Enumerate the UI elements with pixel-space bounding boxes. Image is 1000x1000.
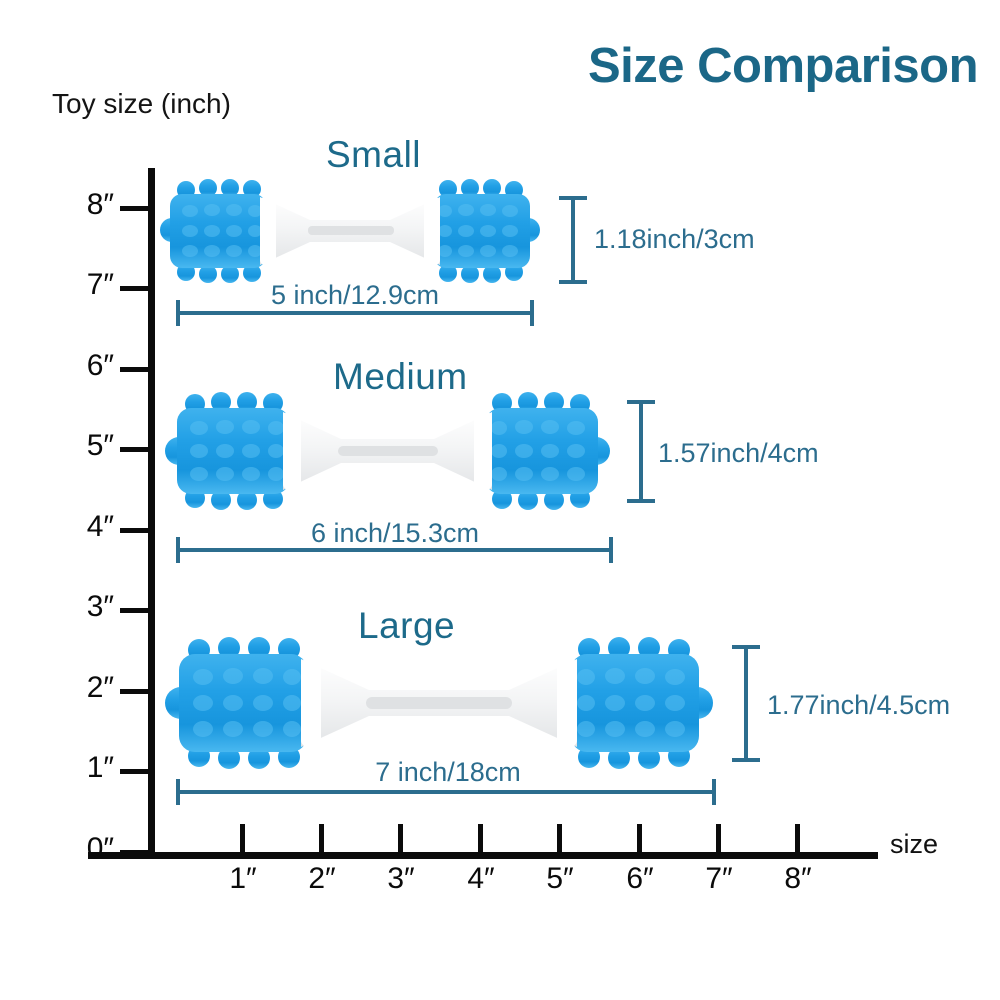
x-tick-7 [716, 824, 721, 852]
dimension-thickness-medium: 1.57inch/4cm [658, 438, 819, 469]
y-tick-label-5: 5″ [56, 429, 114, 463]
dimension-bracket-thickness-medium [639, 400, 643, 503]
dimension-bracket-length-small [176, 311, 534, 315]
x-tick-4 [478, 824, 483, 852]
y-tick-label-3: 3″ [56, 590, 114, 624]
x-tick-label-6: 6″ [613, 862, 667, 896]
y-tick-7 [120, 286, 148, 291]
y-tick-4 [120, 528, 148, 533]
y-tick-label-6: 6″ [56, 349, 114, 383]
y-tick-1 [120, 769, 148, 774]
page-title: Size Comparison [588, 38, 978, 94]
dimension-bracket-length-medium [176, 548, 613, 552]
toy-image-large [165, 633, 713, 773]
y-tick-6 [120, 367, 148, 372]
x-tick-label-5: 5″ [533, 862, 587, 896]
dimension-bracket-thickness-small [571, 196, 575, 284]
y-tick-label-0: 0″ [56, 832, 114, 866]
x-axis-caption: size [890, 829, 938, 860]
dimension-length-medium: 6 inch/15.3cm [180, 518, 610, 549]
y-tick-label-8: 8″ [56, 188, 114, 222]
x-tick-label-3: 3″ [374, 862, 428, 896]
infographic-canvas: Size Comparison Toy size (inch) size 0″ … [0, 0, 1000, 1000]
x-tick-5 [557, 824, 562, 852]
y-tick-label-7: 7″ [56, 268, 114, 302]
x-tick-2 [319, 824, 324, 852]
x-axis-line [88, 852, 878, 859]
dimension-bracket-thickness-large [744, 645, 748, 762]
toy-image-medium [165, 389, 610, 513]
y-tick-2 [120, 689, 148, 694]
product-name-small: Small [326, 134, 421, 176]
y-tick-5 [120, 447, 148, 452]
dimension-bracket-length-large [176, 790, 716, 794]
x-tick-label-7: 7″ [692, 862, 746, 896]
x-tick-3 [398, 824, 403, 852]
dimension-length-small: 5 inch/12.9cm [175, 280, 535, 311]
y-tick-3 [120, 608, 148, 613]
x-tick-label-8: 8″ [771, 862, 825, 896]
dimension-length-large: 7 inch/18cm [180, 757, 716, 788]
x-tick-1 [240, 824, 245, 852]
x-tick-label-4: 4″ [454, 862, 508, 896]
y-axis-line [148, 168, 155, 858]
dimension-thickness-small: 1.18inch/3cm [594, 224, 755, 255]
y-axis-caption: Toy size (inch) [52, 88, 231, 120]
y-tick-label-4: 4″ [56, 510, 114, 544]
x-tick-label-1: 1″ [216, 862, 270, 896]
y-tick-8 [120, 206, 148, 211]
x-tick-8 [795, 824, 800, 852]
y-tick-label-1: 1″ [56, 751, 114, 785]
y-tick-label-2: 2″ [56, 671, 114, 705]
toy-image-small [160, 177, 540, 284]
x-tick-label-2: 2″ [295, 862, 349, 896]
x-tick-6 [637, 824, 642, 852]
dimension-thickness-large: 1.77inch/4.5cm [767, 690, 950, 721]
y-tick-0 [120, 850, 148, 855]
